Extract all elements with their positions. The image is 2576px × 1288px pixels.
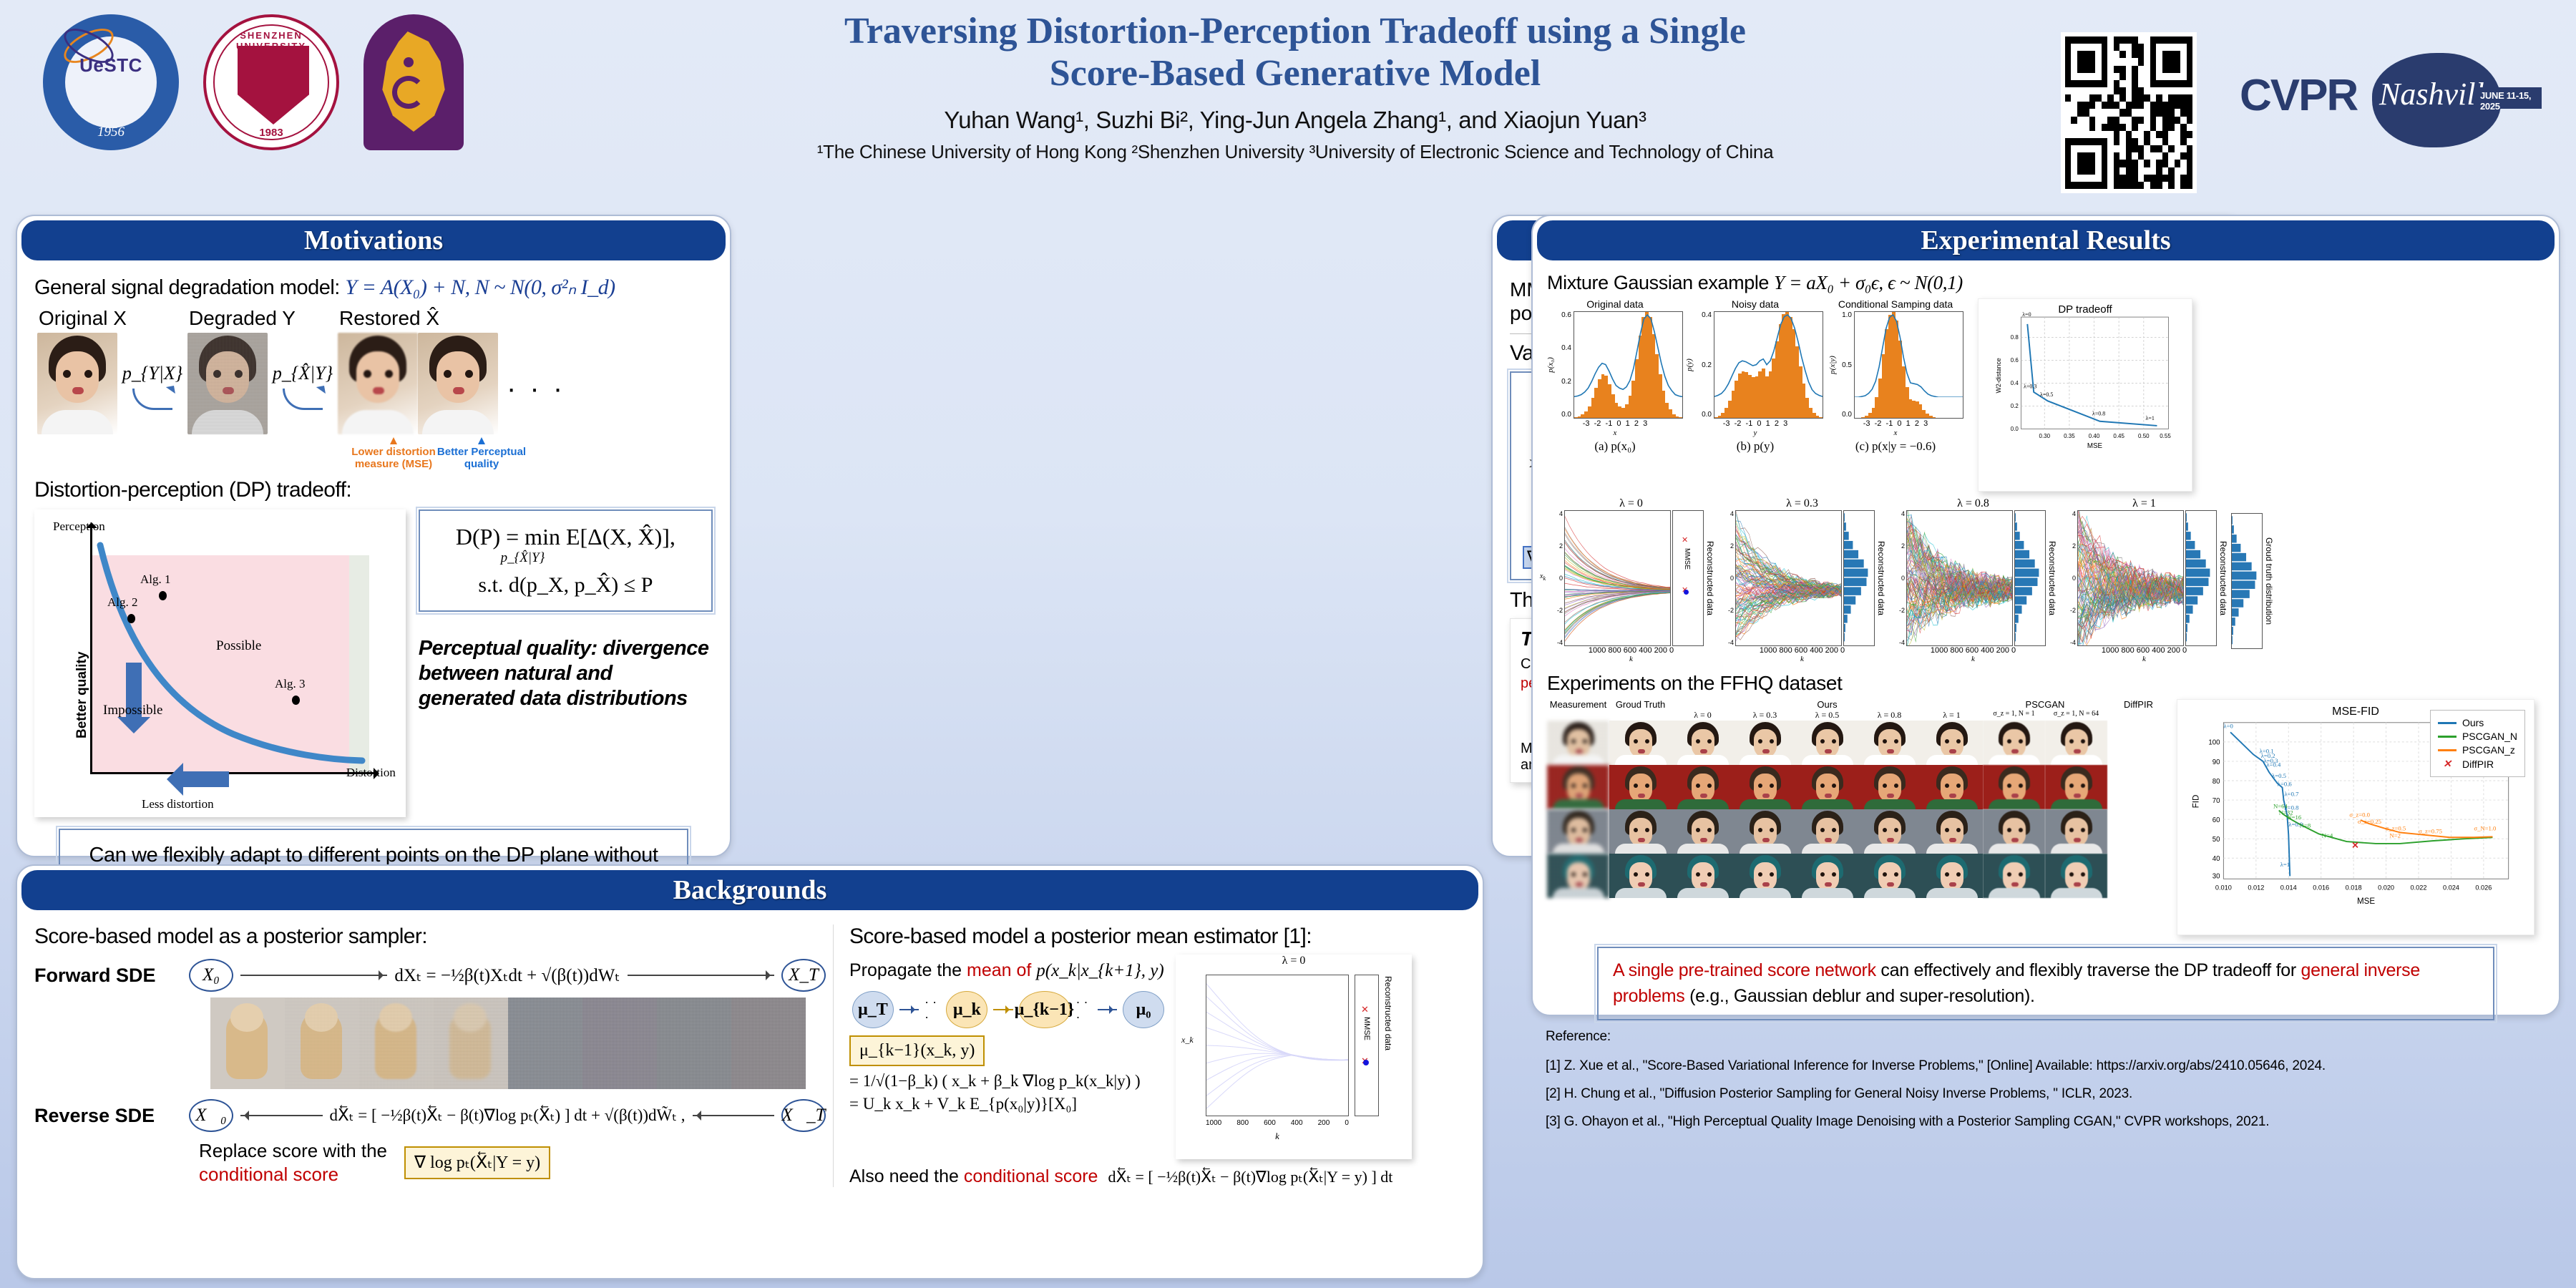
histogram-plot xyxy=(1714,311,1823,419)
ffhq-cell xyxy=(1858,721,1921,765)
reverse-sde-end-node: X⃖_T xyxy=(781,1099,826,1132)
svg-text:✕: ✕ xyxy=(2351,841,2359,851)
svg-text:λ=0.3: λ=0.3 xyxy=(2024,384,2036,390)
lambda-zero-mmse-box: ✕ ✕ MMSE xyxy=(1355,975,1379,1116)
lambda-panel-title: λ = 0.8 xyxy=(1889,497,2057,510)
histogram-row: Original data0.60.40.20.0p(x₀)-3 -2 -1 0… xyxy=(1547,298,1963,454)
svg-text:σ_z=0.75: σ_z=0.75 xyxy=(2419,827,2442,834)
mu-equation-1: = 1/√(1−β_k) ( x_k + β_k ∇log p_k(x_k|y)… xyxy=(849,1072,1164,1091)
svg-text:50: 50 xyxy=(2212,836,2220,844)
reference-item: [2] H. Chung et al., "Diffusion Posterio… xyxy=(1546,1080,2562,1108)
mmse-dot-marker xyxy=(1363,1060,1369,1065)
lambda-panel-3: λ = 1420-2-4Reconstructed data1000 800 6… xyxy=(2060,497,2228,663)
ffhq-cell xyxy=(1796,765,1858,809)
histogram-xlabel: y xyxy=(1687,429,1823,437)
propagate-red-text: mean of xyxy=(967,960,1036,980)
svg-text:σ_z=0.25: σ_z=0.25 xyxy=(2358,818,2381,825)
poster-title-line2: Score-Based Generative Model xyxy=(630,52,1961,94)
lambda-zero-xlabel: k xyxy=(1206,1131,1349,1142)
posterior-mean-title: Score-based model a posterior mean estim… xyxy=(849,924,1463,949)
ffhq-image-rows xyxy=(1547,721,2170,898)
lambda-xlabel: k xyxy=(2060,655,2228,663)
ffhq-cell xyxy=(2045,765,2107,809)
lambda-xticks: 1000 800 600 400 200 0 xyxy=(1718,646,1886,655)
ffhq-cell xyxy=(1609,721,1672,765)
histogram-1: Original data0.60.40.20.0p(x₀)-3 -2 -1 0… xyxy=(1547,298,1683,454)
mmse-x-marker-icon: ✕ xyxy=(1361,1004,1369,1015)
ffhq-cell xyxy=(1734,809,1796,854)
svg-text:0.35: 0.35 xyxy=(2064,433,2075,439)
ffhq-cell xyxy=(1983,809,2045,854)
ground-truth-kde-box xyxy=(2231,513,2263,649)
svg-text:0.2: 0.2 xyxy=(2011,403,2019,409)
svg-text:W2-distance: W2-distance xyxy=(1995,358,2002,393)
ffhq-row xyxy=(1547,809,2170,854)
ffhq-cell xyxy=(1921,765,1983,809)
lambda-panel-2: λ = 0.8420-2-4Reconstructed data1000 800… xyxy=(1889,497,2057,663)
cvpr-logo-text: CVPR xyxy=(2240,70,2357,121)
svg-text:0.024: 0.024 xyxy=(2443,884,2459,892)
alg2-point xyxy=(127,614,135,623)
uestc-logo-text: UeSTC xyxy=(43,54,179,77)
backgrounds-panel: Backgrounds Score-based model as a poste… xyxy=(16,864,1484,1279)
histogram-caption: (b) p(y) xyxy=(1687,439,1823,454)
uestc-logo: UeSTC 1956 xyxy=(43,14,179,150)
column-label-original: Original X xyxy=(39,307,189,330)
impossible-region-label: Impossible xyxy=(103,703,162,718)
svg-text:0.010: 0.010 xyxy=(2215,884,2232,892)
lambda-xticks: 1000 800 600 400 200 0 xyxy=(2060,646,2228,655)
ffhq-row xyxy=(1547,854,2170,898)
reconstructed-kde-box xyxy=(2185,510,2217,646)
lambda-panel-title: λ = 0 xyxy=(1547,497,1715,510)
reconstructed-kde-box xyxy=(2014,510,2046,646)
affiliation-list: ¹The Chinese University of Hong Kong ²Sh… xyxy=(630,141,1961,163)
restored-image-mse xyxy=(338,333,418,434)
lambda-panel-0: λ = 0420-2-4xk✕✕MMSEReconstructed data10… xyxy=(1547,497,1715,663)
histogram-title: Original data xyxy=(1547,298,1683,310)
uestc-logo-year: 1956 xyxy=(43,125,179,140)
dp-formula-line1: D(P) = min E[Δ(X, X̂)], xyxy=(430,524,701,550)
lambda-plot-area xyxy=(1735,510,1842,646)
svg-text:σ_z=0.5: σ_z=0.5 xyxy=(2386,825,2406,832)
grid-sub-lambda-1: λ = 1 xyxy=(1921,710,1983,721)
legend-item-diffpir: ✕DiffPIR xyxy=(2438,758,2517,770)
ffhq-cell xyxy=(1609,765,1672,809)
references-label: Reference: xyxy=(1546,1023,2562,1051)
histogram-title: Noisy data xyxy=(1687,298,1823,310)
lambda-zero-trajectory-chart: λ = 0 xyxy=(1176,955,1412,1159)
svg-text:λ=0.6: λ=0.6 xyxy=(2278,781,2293,788)
svg-text:0.022: 0.022 xyxy=(2411,884,2427,892)
experimental-results-heading: Experimental Results xyxy=(1537,220,2555,260)
conclusion-end: (e.g., Gaussian deblur and super-resolut… xyxy=(1684,986,2034,1006)
ground-truth-panel: Groud truth distribution xyxy=(2231,513,2274,649)
mu-chain-ellipsis-2: · · · xyxy=(1076,995,1092,1025)
ffhq-cell xyxy=(2045,809,2107,854)
svg-text:30: 30 xyxy=(2212,872,2220,880)
svg-text:40: 40 xyxy=(2212,855,2220,863)
also-need-equation: dX⃖ₜ = [ −½β(t)X⃖ₜ − β(t)∇log pₜ(X⃖ₜ|Y =… xyxy=(1108,1168,1392,1186)
reconstructed-kde-box xyxy=(1843,510,1875,646)
ffhq-cell xyxy=(1983,721,2045,765)
also-need-pre: Also need the xyxy=(849,1166,964,1186)
histogram-plot xyxy=(1854,311,1963,419)
histogram-xticks: -3 -2 -1 0 1 2 3 xyxy=(1828,419,1963,428)
mse-fid-legend: Ours PSCGAN_N PSCGAN_z ✕DiffPIR xyxy=(2430,710,2525,777)
svg-text:N=16: N=16 xyxy=(2287,814,2302,821)
also-need-row: Also need the conditional score dX⃖ₜ = [… xyxy=(849,1166,1463,1187)
diffusion-frame xyxy=(210,997,285,1089)
ffhq-cell xyxy=(1983,854,2045,898)
svg-text:0.4: 0.4 xyxy=(2011,380,2019,386)
restored-image-perceptual xyxy=(418,333,498,434)
histogram-caption: (a) p(x₀) xyxy=(1547,439,1683,454)
grid-sub-lambda-08: λ = 0.8 xyxy=(1858,710,1921,721)
side-label: Reconstructed data xyxy=(2218,510,2228,646)
mu-chain: μ_T · · · μ_k μ_{k−1} · · · μ₀ xyxy=(852,991,1164,1028)
mu-node-k-1: μ_{k−1} xyxy=(1019,991,1070,1028)
logo-row: UeSTC 1956 SHENZHEN UNIVERSITY 1983 xyxy=(43,14,499,150)
svg-text:100: 100 xyxy=(2208,739,2220,747)
svg-text:0.012: 0.012 xyxy=(2248,884,2264,892)
caption-better-perceptual: Better Perceptual quality xyxy=(436,437,527,471)
backgrounds-heading: Backgrounds xyxy=(21,870,1478,910)
diffusion-frame xyxy=(508,997,582,1089)
mu-equation-2: = U_k x_k + V_k E_{p(x₀|y)}[X₀] xyxy=(849,1095,1164,1113)
ffhq-cell xyxy=(1672,721,1734,765)
poster-header: UeSTC 1956 SHENZHEN UNIVERSITY 1983 Trav… xyxy=(0,0,2576,215)
lambda-zero-plot-area xyxy=(1206,975,1349,1116)
svg-text:λ=0.4: λ=0.4 xyxy=(2266,761,2281,769)
better-quality-label: Better quality xyxy=(74,651,90,738)
posterior-mean-column: Score-based model a posterior mean estim… xyxy=(833,924,1463,1187)
also-need-red: conditional score xyxy=(964,1166,1098,1186)
original-image xyxy=(37,333,117,434)
svg-text:λ=0.8: λ=0.8 xyxy=(2092,411,2105,417)
motivations-heading: Motivations xyxy=(21,220,726,260)
degradation-pipeline: p_{Y|X} p_{X̂|Y} · · · xyxy=(37,333,713,434)
svg-text:0.45: 0.45 xyxy=(2113,433,2124,439)
lambda-zero-xticks: 10008006004002000 xyxy=(1206,1119,1349,1127)
ffhq-cell xyxy=(1921,854,1983,898)
diffusion-frame xyxy=(285,997,359,1089)
ffhq-row xyxy=(1547,721,2170,765)
mmse-x-icon: ✕ xyxy=(1682,535,1688,545)
histogram-xticks: -3 -2 -1 0 1 2 3 xyxy=(1687,419,1823,428)
mixture-equation: Y = aX₀ + σ₀ϵ, ϵ ~ N(0,1) xyxy=(1774,272,1963,293)
ffhq-cell xyxy=(1983,765,2045,809)
replace-score-line1: Replace score with the xyxy=(199,1139,387,1163)
cvpr-logo: CVPR Nashville JUNE 11-15, 2025 xyxy=(2240,50,2540,150)
ffhq-cell xyxy=(1672,809,1734,854)
references-block: Reference: [1] Z. Xue et al., "Score-Bas… xyxy=(1546,1023,2562,1136)
lambda-panel-title: λ = 0.3 xyxy=(1718,497,1886,510)
svg-text:FID: FID xyxy=(2192,795,2201,809)
forward-sde-end-node: X_T xyxy=(781,959,826,992)
svg-text:N=8: N=8 xyxy=(2300,822,2311,829)
ffhq-cell xyxy=(1734,854,1796,898)
ffhq-section-title: Experiments on the FFHQ dataset xyxy=(1547,672,2545,695)
svg-text:0.016: 0.016 xyxy=(2313,884,2329,892)
grid-header-top: Measurement Groud Truth Ours PSCGAN Diff… xyxy=(1547,699,2170,710)
lambda-panel-1: λ = 0.3420-2-4Reconstructed data1000 800… xyxy=(1718,497,1886,663)
alg3-point xyxy=(292,696,300,705)
mmse-marker-box: ✕✕MMSE xyxy=(1672,510,1704,646)
ffhq-cell xyxy=(1609,854,1672,898)
diffusion-frame xyxy=(359,997,434,1089)
alg1-label: Alg. 1 xyxy=(140,572,171,587)
lambda-panel-title: λ = 1 xyxy=(2060,497,2228,510)
svg-text:0.026: 0.026 xyxy=(2475,884,2492,892)
grid-sub-lambda-03: λ = 0.3 xyxy=(1734,710,1796,721)
conclusion-box: A single pre-trained score network can e… xyxy=(1597,947,2494,1020)
ffhq-cell xyxy=(1734,765,1796,809)
ffhq-cell xyxy=(1609,809,1672,854)
svg-text:λ=0.5: λ=0.5 xyxy=(2040,391,2053,398)
mixture-gaussian-title: Mixture Gaussian example Y = aX₀ + σ₀ϵ, … xyxy=(1547,272,2545,294)
reverse-sde-row: Reverse SDE X⃖₀ dX⃖ₜ = [ −½β(t)X⃖ₜ − β(t… xyxy=(34,1099,826,1132)
degradation-model-line: General signal degradation model: Y = A(… xyxy=(34,275,713,300)
ground-truth-label: Groud truth distribution xyxy=(2264,513,2274,649)
reference-item: [3] G. Ohayon et al., "High Perceptual Q… xyxy=(1546,1108,2562,1136)
legend-item-pscgan-z: PSCGAN_z xyxy=(2438,744,2517,756)
grid-sub-pscgan-n64: σ_z = 1, N = 64 xyxy=(2045,710,2107,721)
diffusion-frame xyxy=(434,997,508,1089)
histogram-xlabel: x xyxy=(1547,429,1683,437)
mse-fid-chart: MSE-FID ✕ xyxy=(2177,699,2534,935)
lambda-zero-ylabel: x_k xyxy=(1181,1035,1194,1045)
svg-text:0.8: 0.8 xyxy=(2011,334,2019,341)
ffhq-row xyxy=(1547,765,2170,809)
dp-mse-chart-svg: λ=0λ=0.3 λ=0.5λ=0.8λ=1 0.80.60.40.20.0 0… xyxy=(1979,312,2193,471)
ffhq-cell xyxy=(1921,809,1983,854)
svg-text:70: 70 xyxy=(2212,797,2220,805)
lambda-xlabel: k xyxy=(1718,655,1886,663)
alg3-label: Alg. 3 xyxy=(275,677,306,691)
svg-text:0.020: 0.020 xyxy=(2378,884,2394,892)
degradation-model-equation: Y = A(X₀) + N, N ~ N(0, σ²ₙ I_d) xyxy=(345,275,615,299)
conclusion-red-1: A single pre-trained score network xyxy=(1613,960,1876,980)
legend-item-pscgan-n: PSCGAN_N xyxy=(2438,731,2517,742)
pipeline-column-labels: Original X Degraded Y Restored X̂ xyxy=(39,307,713,330)
pipeline-ellipsis: · · · xyxy=(498,333,565,405)
mmse-label: MMSE xyxy=(1362,1017,1371,1040)
propagate-pre-text: Propagate the xyxy=(849,960,967,980)
mmse-text: MMSE xyxy=(1683,548,1691,570)
degradation-model-label: General signal degradation model: xyxy=(34,276,340,299)
reverse-sde-label: Reverse SDE xyxy=(34,1105,182,1127)
histogram-xticks: -3 -2 -1 0 1 2 3 xyxy=(1547,419,1683,428)
svg-text:0.6: 0.6 xyxy=(2011,357,2019,364)
histogram-plot xyxy=(1574,311,1683,419)
szu-logo-text: SHENZHEN UNIVERSITY xyxy=(206,30,336,52)
diffusion-frame xyxy=(657,997,731,1089)
svg-text:0.014: 0.014 xyxy=(2280,884,2297,892)
legend-item-ours: Ours xyxy=(2438,717,2517,728)
dp-formula-line2: s.t. d(p_X, p_X̂) ≤ P xyxy=(430,573,701,597)
ffhq-cell xyxy=(1858,854,1921,898)
lambda-zero-side-label: Reconstructed data xyxy=(1383,976,1393,1050)
histogram-caption: (c) p(x|y = −0.6) xyxy=(1828,439,1963,454)
motivations-panel: Motivations General signal degradation m… xyxy=(16,215,731,857)
svg-text:90: 90 xyxy=(2212,758,2220,766)
mmse-dot-icon xyxy=(1684,590,1689,595)
posterior-sampler-title: Score-based model as a posterior sampler… xyxy=(34,924,826,949)
diffusion-frame xyxy=(582,997,657,1089)
side-label: Reconstructed data xyxy=(1705,510,1715,646)
forward-sde-equation: dXₜ = −½β(t)Xₜdt + √(β(t))dWₜ xyxy=(394,965,620,986)
author-list: Yuhan Wang¹, Suzhi Bi², Ying-Jun Angela … xyxy=(630,107,1961,134)
forward-sde-row: Forward SDE X₀ dXₜ = −½β(t)Xₜdt + √(β(t)… xyxy=(34,959,826,992)
lambda-plot-area xyxy=(2077,510,2184,646)
svg-text:0.50: 0.50 xyxy=(2138,433,2150,439)
column-label-restored: Restored X̂ xyxy=(339,307,489,330)
column-label-degraded: Degraded Y xyxy=(189,307,339,330)
svg-text:MSE: MSE xyxy=(2357,897,2375,906)
conditional-score-box: ∇ log pₜ(X⃖ₜ|Y = y) xyxy=(404,1146,550,1179)
svg-text:0.018: 0.018 xyxy=(2346,884,2362,892)
svg-text:N=2: N=2 xyxy=(2389,831,2401,839)
svg-text:80: 80 xyxy=(2212,778,2220,786)
propagate-mean-line: Propagate the mean of p(x_k|x_{k+1}, y) xyxy=(849,960,1164,981)
svg-text:λ=0.5: λ=0.5 xyxy=(2272,772,2286,779)
replace-score-note-row: Replace score with the conditional score… xyxy=(199,1139,826,1186)
caption-lower-distortion: Lower distortion measure (MSE) xyxy=(351,437,436,471)
grid-sub-lambda-0: λ = 0 xyxy=(1672,710,1734,721)
histogram-title: Conditional Samping data xyxy=(1828,298,1963,310)
mu-chain-ellipsis-1: · · · xyxy=(924,995,940,1025)
lambda-xlabel: k xyxy=(1547,655,1715,663)
lambda-plot-area xyxy=(1906,510,2013,646)
histogram-xlabel: x xyxy=(1828,429,1963,437)
histogram-3: Conditional Samping data1.00.50.0p(x|y)-… xyxy=(1828,298,1963,454)
shenzhen-university-logo: SHENZHEN UNIVERSITY 1983 xyxy=(203,14,339,150)
ffhq-cell xyxy=(1858,809,1921,854)
mu-node-k: μ_k xyxy=(946,991,987,1028)
svg-text:λ=0: λ=0 xyxy=(2223,723,2233,730)
conclusion-middle: can effectively and flexibly traverse th… xyxy=(1876,960,2301,980)
svg-text:MSE: MSE xyxy=(2087,442,2103,450)
cvpr-date-text: JUNE 11-15, 2025 xyxy=(2480,90,2540,112)
less-distortion-label: Less distortion xyxy=(142,797,214,811)
ffhq-cell xyxy=(1796,809,1858,854)
ffhq-cell xyxy=(1796,854,1858,898)
ffhq-cell xyxy=(1547,854,1609,898)
svg-text:λ=1: λ=1 xyxy=(2145,415,2154,421)
ffhq-cell xyxy=(1796,721,1858,765)
grid-header-measurement: Measurement xyxy=(1547,699,1609,710)
grid-sub-pscgan-n1: σ_z = 1, N = 1 xyxy=(1983,710,2045,721)
ffhq-cell xyxy=(1547,721,1609,765)
degraded-image xyxy=(187,333,268,434)
forward-sde-label: Forward SDE xyxy=(34,965,182,987)
grid-header-diffpir: DiffPIR xyxy=(2107,699,2170,710)
lambda-xticks: 1000 800 600 400 200 0 xyxy=(1889,646,2057,655)
ffhq-cell xyxy=(1672,765,1734,809)
diffusion-frame xyxy=(731,997,806,1089)
ffhq-cell xyxy=(1734,721,1796,765)
grid-header-ours: Ours xyxy=(1672,699,1983,710)
svg-text:0.30: 0.30 xyxy=(2039,433,2051,439)
cuhk-logo xyxy=(364,14,499,150)
svg-text:0.55: 0.55 xyxy=(2160,433,2171,439)
svg-text:λ=1: λ=1 xyxy=(2280,861,2290,868)
mu-node-T: μ_T xyxy=(852,991,894,1028)
possible-region-label: Possible xyxy=(216,638,261,654)
lambda-xlabel: k xyxy=(1889,655,2057,663)
reverse-sde-equation: dX⃖ₜ = [ −½β(t)X⃖ₜ − β(t)∇log pₜ(X⃖ₜ) ] … xyxy=(330,1106,686,1125)
svg-text:N=4: N=4 xyxy=(2322,831,2333,839)
svg-text:60: 60 xyxy=(2212,816,2220,824)
lambda-xticks: 1000 800 600 400 200 0 xyxy=(1547,646,1715,655)
alg1-point xyxy=(159,591,167,600)
grid-header-sub: λ = 0 λ = 0.3 λ = 0.5 λ = 0.8 λ = 1 σ_z … xyxy=(1547,710,2170,721)
perception-axis-label: Perception xyxy=(53,519,105,534)
diffusion-image-strip xyxy=(210,997,826,1089)
mu-node-0: μ₀ xyxy=(1123,991,1164,1028)
mu-definition-box: μ_{k−1}(x_k, y) xyxy=(849,1035,985,1066)
dp-tradeoff-chart: Alg. 1 Alg. 2 Alg. 3 Possible Impossible… xyxy=(34,509,406,817)
svg-text:0.40: 0.40 xyxy=(2089,433,2100,439)
experimental-results-panel: Experimental Results Mixture Gaussian ex… xyxy=(1531,215,2560,1016)
ffhq-cell xyxy=(1547,765,1609,809)
qr-code-icon[interactable] xyxy=(2061,32,2197,193)
ffhq-cell xyxy=(1672,854,1734,898)
restoration-captions: Lower distortion measure (MSE) Better Pe… xyxy=(351,437,713,471)
reverse-sde-start-node: X⃖₀ xyxy=(189,1099,233,1132)
reference-item: [1] Z. Xue et al., "Score-Based Variatio… xyxy=(1546,1053,2562,1080)
szu-logo-year: 1983 xyxy=(206,127,336,139)
grid-header-ground-truth: Groud Truth xyxy=(1609,699,1672,710)
less-distortion-arrow xyxy=(175,771,229,787)
forward-sde-start-node: X₀ xyxy=(189,959,233,992)
grid-header-pscgan: PSCGAN xyxy=(1983,699,2107,710)
ffhq-cell xyxy=(2045,721,2107,765)
svg-text:σ_N=1.0: σ_N=1.0 xyxy=(2474,825,2497,832)
svg-text:0.0: 0.0 xyxy=(2011,426,2019,432)
histogram-2: Noisy data0.40.20.0p(y)-3 -2 -1 0 1 2 3y… xyxy=(1687,298,1823,454)
lambda-plot-area xyxy=(1564,510,1671,646)
lambda-zero-title: λ = 0 xyxy=(1176,955,1412,967)
ffhq-image-grid: Measurement Groud Truth Ours PSCGAN Diff… xyxy=(1547,699,2170,935)
ffhq-cell xyxy=(1921,721,1983,765)
replace-score-line2: conditional score xyxy=(199,1163,387,1186)
svg-text:λ=0: λ=0 xyxy=(2022,312,2031,318)
alg2-label: Alg. 2 xyxy=(107,595,138,610)
svg-text:λ=0.7: λ=0.7 xyxy=(2284,790,2299,797)
dp-tradeoff-label: Distortion-perception (DP) tradeoff: xyxy=(34,478,713,502)
ffhq-cell xyxy=(1547,809,1609,854)
dp-tradeoff-mse-chart: DP tradeoff λ=0λ=0.3 λ=0.5λ=0.8λ=1 xyxy=(1978,298,2192,492)
poster-title-line1: Traversing Distortion-Perception Tradeof… xyxy=(630,10,1961,52)
lambda-trajectory-row: λ = 0420-2-4xk✕✕MMSEReconstructed data10… xyxy=(1547,497,2545,663)
forward-degradation-arrow: p_{Y|X} xyxy=(117,333,187,410)
mixture-title-text: Mixture Gaussian example xyxy=(1547,272,1769,293)
restoration-arrow: p_{X̂|Y} xyxy=(268,333,338,410)
svg-text:σ_z=0.0: σ_z=0.0 xyxy=(2349,811,2370,818)
posterior-sampler-column: Score-based model as a posterior sampler… xyxy=(34,924,826,1187)
title-block: Traversing Distortion-Perception Tradeof… xyxy=(630,10,1961,163)
ffhq-cell xyxy=(2045,854,2107,898)
grid-sub-lambda-05: λ = 0.5 xyxy=(1796,710,1858,721)
perceptual-quality-note: Perceptual quality: divergence between n… xyxy=(419,636,713,712)
side-label: Reconstructed data xyxy=(2047,510,2057,646)
dp-objective-formula: D(P) = min E[Δ(X, X̂)], p_{X̂|Y} s.t. d(… xyxy=(419,509,713,612)
side-label: Reconstructed data xyxy=(1876,510,1886,646)
ffhq-cell xyxy=(1858,765,1921,809)
distortion-axis-label: Distortion xyxy=(346,766,396,780)
